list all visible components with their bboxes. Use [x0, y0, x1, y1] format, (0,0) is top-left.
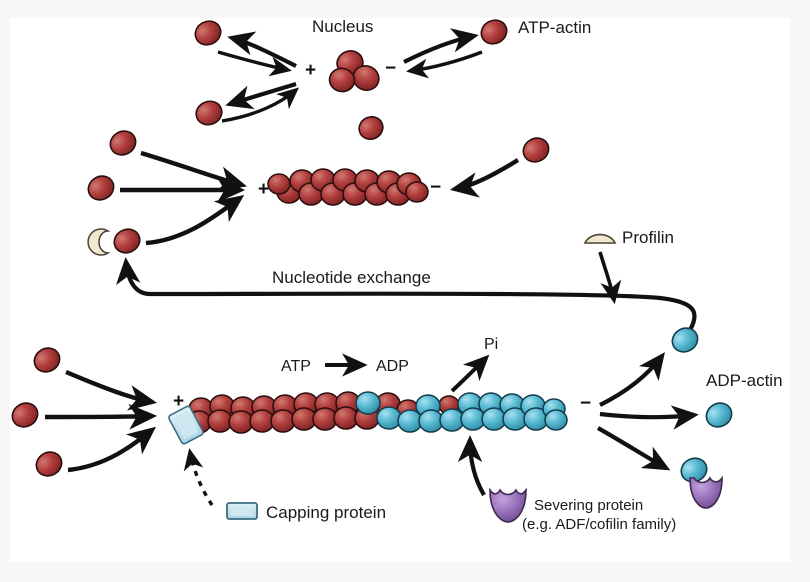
arrow-product-3	[598, 428, 666, 468]
nucleotide-exchange-group: Nucleotide exchange Profilin	[126, 228, 695, 330]
minus-end-sign-elongation: −	[430, 177, 441, 198]
atp-actin-monomer	[30, 344, 64, 377]
minus-end-sign-nucleation: −	[385, 58, 396, 79]
atp-actin-monomer	[8, 399, 42, 432]
atp-actin-monomer	[191, 17, 225, 50]
arrow-dissociate-plus	[232, 38, 296, 66]
actin-dynamics-diagram: Nucleus ATP-actin + −	[0, 0, 810, 582]
severing-protein-legend-icon	[490, 490, 526, 522]
plus-end-sign-nucleation: +	[305, 60, 316, 81]
atp-actin-monomer	[84, 172, 118, 205]
adp-actin-monomer	[702, 399, 736, 432]
nucleus-label: Nucleus	[312, 17, 373, 36]
figure-frame: Nucleus ATP-actin + −	[0, 0, 810, 582]
arrow-monomer-to-plus-treadmill-1	[66, 372, 152, 402]
atp-actin-filament-short	[268, 169, 428, 205]
nucleotide-exchange-label: Nucleotide exchange	[272, 268, 431, 287]
adp-actin-severing-complex	[677, 454, 722, 508]
minus-end-sign-treadmill: −	[580, 393, 591, 414]
arrow-capping-protein-dashed	[190, 452, 212, 505]
atp-actin-label-top: ATP-actin	[518, 18, 591, 37]
atp-actin-monomer	[32, 448, 66, 481]
adp-label: ADP	[376, 358, 409, 375]
actin-nucleus-trimer	[328, 48, 383, 94]
profilin-legend-icon	[585, 235, 615, 243]
arrow-monomer-to-minus	[455, 160, 518, 189]
atp-actin-monomer	[519, 134, 553, 167]
pi-label: Pi	[484, 336, 498, 353]
actin-filament-long	[187, 392, 567, 433]
arrow-dissociate-plus-2	[230, 84, 296, 104]
severing-protein-label-line2: (e.g. ADF/cofilin family)	[522, 516, 676, 533]
atp-actin-monomer	[106, 127, 140, 160]
capping-protein-label: Capping protein	[266, 503, 386, 522]
arrow-monomer-to-plus-3	[146, 198, 240, 243]
profilin-label: Profilin	[622, 228, 674, 247]
arrow-pi-release	[452, 358, 486, 391]
profilin-bound-actin-monomer	[88, 225, 144, 257]
atp-actin-monomer	[477, 16, 511, 49]
adp-actin-label: ADP-actin	[706, 371, 783, 390]
arrow-product-1	[600, 356, 662, 405]
row-treadmilling: ATP ADP Pi	[8, 324, 783, 533]
arrow-severing-to-filament	[470, 440, 484, 495]
arrow-product-2	[600, 414, 694, 417]
atp-actin-monomer	[355, 113, 386, 143]
arrow-monomer-to-plus-treadmill-2	[45, 416, 152, 417]
plus-end-sign-elongation: +	[258, 179, 269, 200]
arrow-monomer-to-plus-1	[141, 153, 242, 185]
profilin-icon	[88, 229, 108, 255]
atp-actin-monomer	[193, 97, 226, 128]
capping-protein-legend-icon	[227, 503, 257, 519]
arrow-profilin-to-exchange	[600, 252, 614, 300]
row-nucleation: Nucleus ATP-actin + −	[191, 16, 591, 129]
arrow-monomer-to-plus-treadmill-3	[68, 430, 152, 470]
row-elongation: + −	[84, 113, 553, 257]
severing-protein-label-line1: Severing protein	[534, 497, 643, 514]
atp-label: ATP	[281, 358, 311, 375]
adp-actin-monomer	[668, 324, 702, 357]
